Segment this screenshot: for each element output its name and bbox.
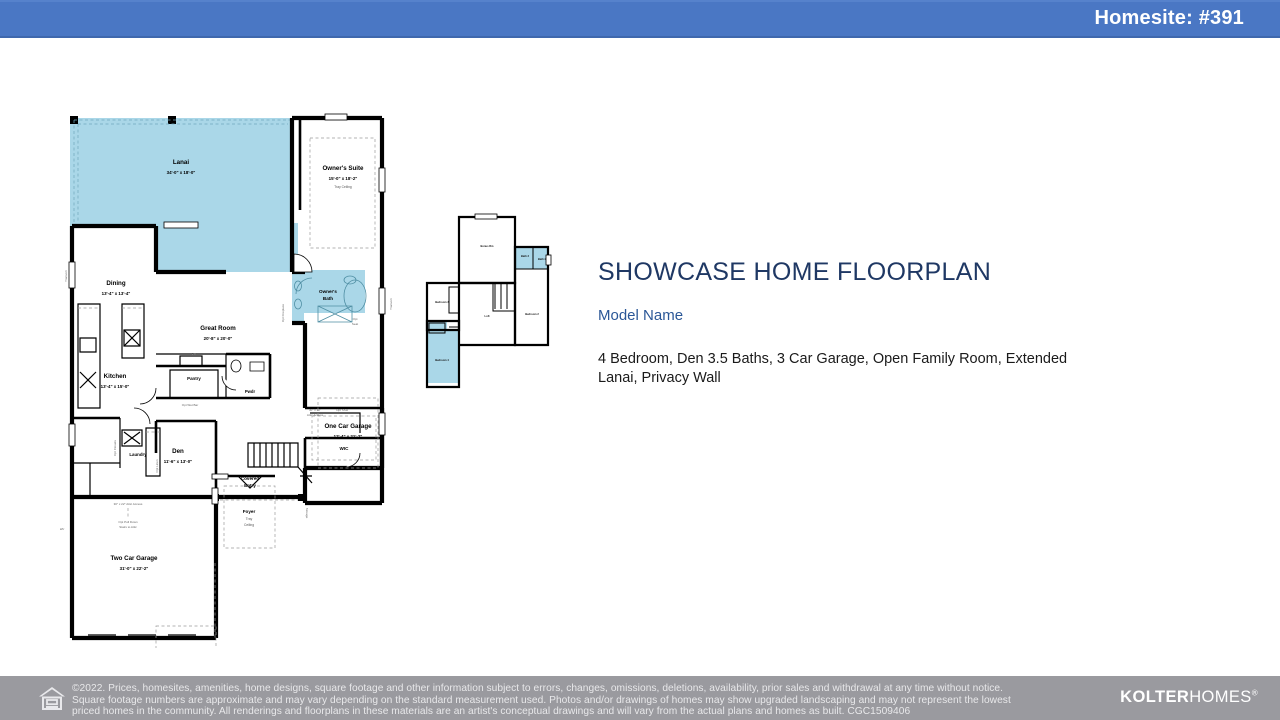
room-label-bath-3: Bath 3 [521,254,529,258]
room-label-kitchen: Kitchen [104,373,127,380]
annotation-opt-pulldown-2: Stairs to Attic [119,525,137,529]
annotation-opt-closets: Opt Closets [113,440,117,456]
annotation-opt-seat2: Seat [352,322,358,326]
page-title: SHOWCASE HOME FLOORPLAN [598,258,1098,287]
room-label-bedroom-2: Bedroom 2 [525,312,539,316]
equal-housing-opportunity-icon [37,684,67,712]
room-label-covered-entry: Covered [241,476,260,481]
room-label-dining: Dining [106,280,125,287]
room-note-owners-suite: Tray Ceiling [334,185,352,189]
logo-text-light: HOMES [1189,688,1252,706]
kolter-homes-logo: KOLTERHOMES® [1120,688,1258,707]
annotation-wtr: Wtr [60,527,64,531]
room-label-owners-bath2: Bath [323,296,333,301]
room-dims-lanai: 34'-0" x 18'-0" [167,170,196,175]
floorplan-info-panel: SHOWCASE HOME FLOORPLAN Model Name 4 Bed… [598,258,1098,388]
room-label-laundry: Laundry [129,452,147,457]
logo-registered-mark: ® [1252,689,1258,698]
annotation-opt-linen: Opt Linen [155,459,159,472]
room-label-storage: Storage [305,508,309,519]
room-label-bedroom-3: Bedroom 3 [435,300,449,304]
room-label-covered-entry2: Entry [244,483,256,488]
header-bar: Homesite: #391 [0,0,1280,38]
annotation-opt-wet-bar: Opt Wet Bar [182,403,198,407]
room-label-great-room: Great Room [200,325,236,332]
annotation-attic-access-a: 30" x 22" [309,408,321,412]
room-label-lanai: Lanai [173,159,189,166]
room-dims-kitchen: 13'-4" x 15'-0" [101,384,130,389]
logo-text-bold: KOLTER [1120,688,1189,706]
disclaimer-line-1: ©2022. Prices, homesites, amenities, hom… [72,683,1082,695]
annotation-transom-right: Transom [389,298,393,310]
first-floor-floorplan: .w{stroke:#000;fill:none;} .wt{stroke:#0… [60,108,400,648]
room-dims-great-room: 20'-8" x 20'-0" [204,336,233,341]
annotation-transom-left: Transom [64,270,68,282]
room-dims-one-car-garage: 12'-4" x 21'-2" [334,434,363,439]
disclaimer-line-3: priced homes in the community. All rende… [72,706,1082,718]
room-label-pantry: Pantry [187,376,201,381]
room-dims-owners-suite: 15'-0" x 18'-2" [329,176,358,181]
room-dims-den: 11'-6" x 13'-0" [164,459,192,464]
annotation-opt-ssh: Opt SSH [336,408,348,412]
floorplan-description: 4 Bedroom, Den 3.5 Baths, 3 Car Garage, … [598,350,1083,388]
room-dims-two-car-garage: 31'-0" x 22'-2" [120,566,149,571]
room-label-owners-bath: Owner's [319,289,337,294]
room-label-bath-2: Bath 2 [538,257,546,261]
annotation-opt-pulldown-1: Opt Pull Down [118,520,138,524]
model-name-label: Model Name [598,307,1098,324]
room-label-one-car-garage: One Car Garage [324,423,372,430]
room-note-foyer-2: Ceiling [244,523,254,527]
legal-disclaimer: ©2022. Prices, homesites, amenities, hom… [72,683,1082,718]
disclaimer-line-2: Square footage numbers are approximate a… [72,695,1082,707]
room-note-foyer-1: Tray [246,517,253,521]
second-floor-floorplan: .w2{stroke:#000;stroke-width:2.2;fill:no… [415,205,570,400]
annotation-attic-access2: 30" x 22" Attic Access [114,502,143,506]
room-label-bedroom-4: Bedroom 4 [435,358,449,362]
room-dims-dining: 13'-4" x 13'-4" [102,291,131,296]
room-label-bonus-room: Bonus Rm [481,244,495,248]
homesite-label: Homesite: #391 [1094,7,1244,30]
annotation-opt-fireplace: Opt Fireplace [281,304,285,322]
room-label-pwdr: Pwdr [245,389,256,394]
annotation-attic-access-b: Attic Access [307,413,324,417]
room-label-loft: Loft [485,314,490,318]
room-label-two-car-garage: Two Car Garage [111,555,159,562]
room-label-wic: WIC [340,446,350,451]
annotation-ref: Ref [192,352,197,356]
room-label-den: Den [172,448,184,455]
room-label-owners-suite: Owner's Suite [322,165,364,172]
annotation-opt-seat: Opt [353,317,358,321]
room-label-foyer: Foyer [243,509,256,514]
